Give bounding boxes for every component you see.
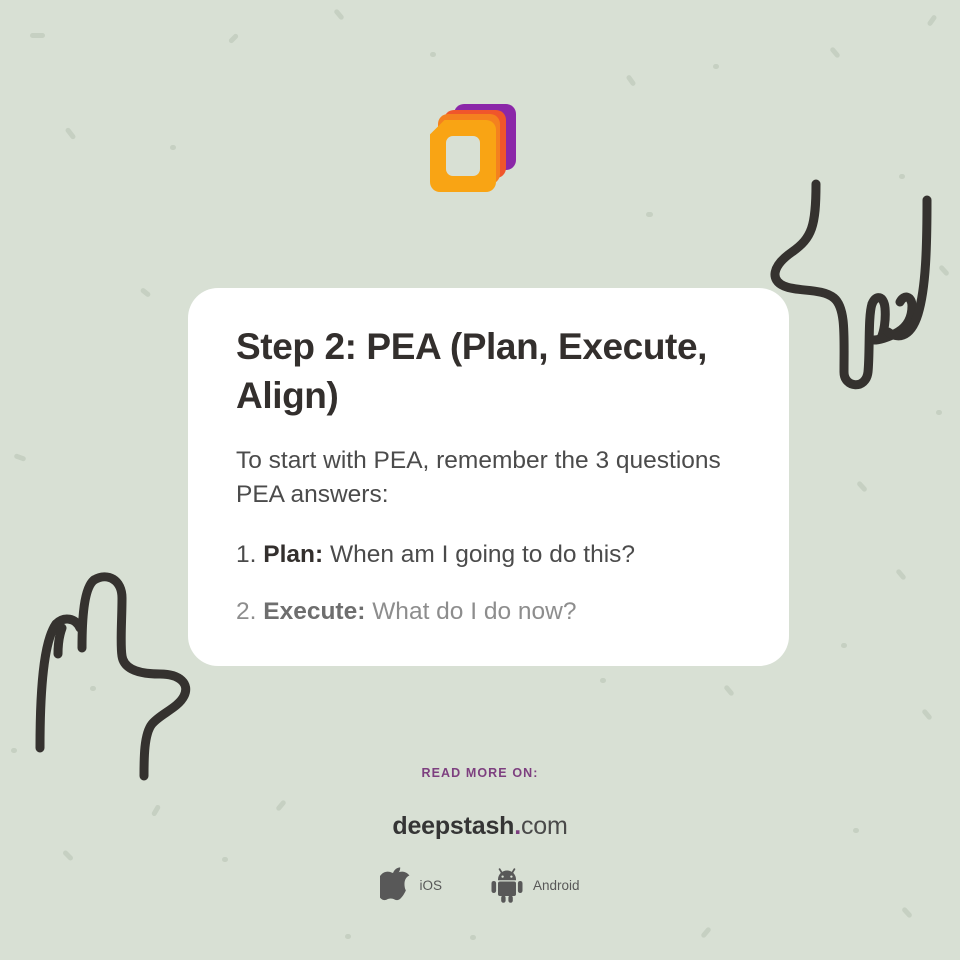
speckle-13 [713,64,719,69]
deepstash-logo [428,104,518,196]
list-item-text: What do I do now? [372,598,576,625]
card-list: 1. Plan: When am I going to do this?2. E… [236,538,741,629]
speckle-21 [841,643,847,648]
poster-canvas: Step 2: PEA (Plan, Execute, Align) To st… [0,0,960,960]
site-tld: com [521,812,568,840]
speckle-24 [921,708,933,720]
speckle-31 [170,145,176,150]
speckle-8 [228,33,239,44]
store-label-android: Android [533,878,580,893]
apple-icon [380,867,410,903]
list-item-term: Execute: [263,598,372,625]
speckle-32 [470,935,476,940]
card-body-text: To start with PEA, remember the 3 questi… [236,444,741,511]
speckle-22 [723,684,735,696]
speckle-23 [600,678,606,683]
list-item-text: When am I going to do this? [330,541,635,568]
speckle-30 [11,748,17,753]
card-list-item: 2. Execute: What do I do now? [236,595,741,629]
list-item-number: 1. [236,541,263,568]
speckle-10 [430,52,436,57]
speckle-27 [700,926,712,938]
list-item-term: Plan: [263,541,330,568]
speckle-2 [140,287,152,298]
store-badge-android[interactable]: Android [490,867,580,903]
card-title: Step 2: PEA (Plan, Execute, Align) [236,322,741,420]
speckle-20 [936,410,942,415]
speckle-15 [927,14,938,27]
speckle-18 [856,480,868,492]
speckle-17 [938,264,950,276]
read-more-label: READ MORE ON: [0,766,960,780]
speckle-1 [65,127,77,140]
store-label-ios: iOS [419,878,442,893]
content-card: Step 2: PEA (Plan, Execute, Align) To st… [188,288,789,666]
speckle-0 [30,33,45,38]
speckle-28 [345,934,351,939]
site-brand: deepstash [392,812,514,840]
footer: READ MORE ON: deepstash.com iOS [0,766,960,903]
list-item-number: 2. [236,598,263,625]
store-badge-ios[interactable]: iOS [380,867,442,903]
speckle-3 [14,453,27,462]
logo-center-hole [446,136,480,176]
speckle-14 [829,46,841,58]
speckle-12 [646,212,653,217]
speckle-19 [895,568,907,580]
site-dot: . [514,812,521,840]
site-url[interactable]: deepstash.com [0,812,960,841]
pointing-hand-bottom-left-icon [26,562,204,782]
speckle-26 [901,906,913,918]
card-list-item: 1. Plan: When am I going to do this? [236,538,741,572]
android-icon [490,867,524,903]
speckle-9 [333,8,345,20]
app-store-badges: iOS [0,867,960,903]
speckle-11 [626,74,637,87]
